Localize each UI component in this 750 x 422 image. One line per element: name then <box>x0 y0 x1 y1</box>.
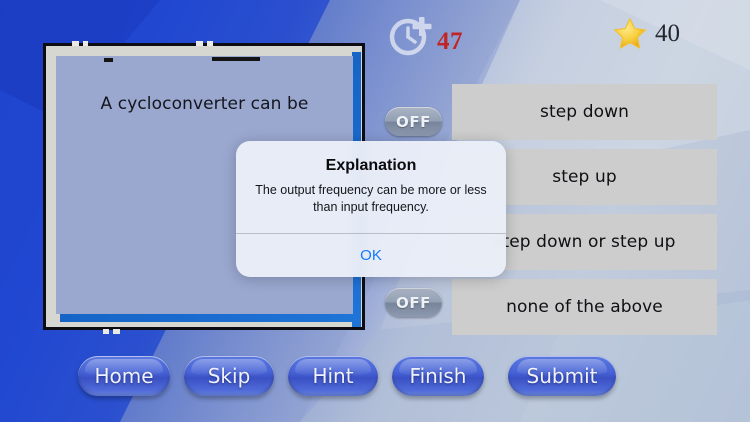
panel-tick <box>212 57 260 61</box>
panel-notch <box>72 41 79 46</box>
dialog-body: Explanation The output frequency can be … <box>236 141 506 233</box>
home-button[interactable]: Home <box>78 356 170 396</box>
panel-notch <box>103 329 109 334</box>
dialog-title: Explanation <box>254 157 488 175</box>
dialog-ok-button[interactable]: OK <box>236 234 506 277</box>
timer-value: 47 <box>437 28 463 56</box>
panel-notch <box>196 41 203 46</box>
explanation-dialog: Explanation The output frequency can be … <box>236 141 506 277</box>
panel-notch <box>83 41 88 46</box>
panel-accent-bottom <box>60 313 357 322</box>
panel-notch <box>207 41 213 46</box>
toggle-bottom[interactable]: OFF <box>385 288 442 317</box>
dialog-message: The output frequency can be more or less… <box>254 182 488 217</box>
skip-button[interactable]: Skip <box>184 356 274 396</box>
clock-plus-icon <box>388 13 434 59</box>
panel-tick <box>104 58 113 62</box>
star-value: 40 <box>655 20 680 48</box>
quiz-app-screen: 47 40 A cycloconverter can be <box>0 0 750 422</box>
timer-hud: 47 <box>388 10 488 62</box>
finish-button[interactable]: Finish <box>392 356 484 396</box>
submit-button[interactable]: Submit <box>508 356 616 396</box>
action-button-row: Home Skip Hint Finish Submit <box>0 356 750 398</box>
answer-option-1[interactable]: step down <box>452 84 717 140</box>
hint-button[interactable]: Hint <box>288 356 378 396</box>
answer-option-4[interactable]: none of the above <box>452 279 717 335</box>
star-icon <box>612 16 648 52</box>
star-hud: 40 <box>612 16 680 52</box>
panel-notch <box>113 329 120 334</box>
toggle-top[interactable]: OFF <box>385 107 442 136</box>
